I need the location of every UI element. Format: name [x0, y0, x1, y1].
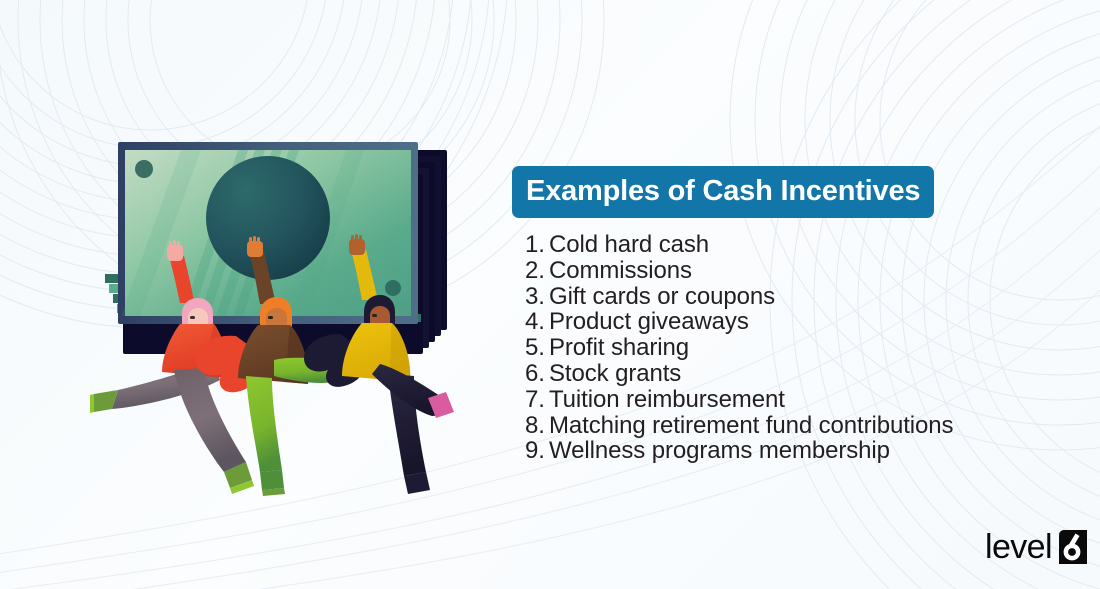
list-item-label: Profit sharing — [549, 335, 689, 361]
logo-six-mark — [1053, 530, 1087, 564]
list-item-number: 4. — [525, 309, 549, 335]
list-item-label: Gift cards or coupons — [549, 284, 775, 310]
logo-wordmark: level — [985, 530, 1052, 564]
list-item: 5. Profit sharing — [525, 335, 1072, 361]
brand-logo: level — [985, 530, 1087, 564]
list-item: 4. Product giveaways — [525, 309, 1072, 335]
list-item: 7. Tuition reimbursement — [525, 387, 1072, 413]
banknote-corner-dot-right — [385, 280, 401, 296]
list-item-number: 1. — [525, 232, 549, 258]
list-item: 3. Gift cards or coupons — [525, 284, 1072, 310]
infographic-slide: Examples of Cash Incentives 1. Cold hard… — [0, 0, 1100, 589]
list-item-label: Product giveaways — [549, 309, 749, 335]
cash-incentives-list: 1. Cold hard cash 2. Commissions 3. Gift… — [525, 232, 1072, 464]
list-item-number: 2. — [525, 258, 549, 284]
list-item-number: 9. — [525, 438, 549, 464]
list-item: 6. Stock grants — [525, 361, 1072, 387]
list-item-label: Wellness programs membership — [549, 438, 890, 464]
banknote-corner-dot-left — [135, 160, 153, 178]
list-item-label: Stock grants — [549, 361, 681, 387]
list-item-label: Cold hard cash — [549, 232, 709, 258]
list-item-number: 7. — [525, 387, 549, 413]
list-item-label: Matching retirement fund contributions — [549, 413, 953, 439]
list-item: 8. Matching retirement fund contribution… — [525, 413, 1072, 439]
list-item-number: 3. — [525, 284, 549, 310]
list-item-number: 6. — [525, 361, 549, 387]
cash-stack-illustration — [88, 128, 488, 498]
list-item-number: 5. — [525, 335, 549, 361]
list-item-number: 8. — [525, 413, 549, 439]
list-item-label: Tuition reimbursement — [549, 387, 785, 413]
list-item: 2. Commissions — [525, 258, 1072, 284]
content-column: Examples of Cash Incentives 1. Cold hard… — [512, 166, 1072, 464]
list-item: 9. Wellness programs membership — [525, 438, 1072, 464]
list-item: 1. Cold hard cash — [525, 232, 1072, 258]
list-item-label: Commissions — [549, 258, 692, 284]
page-title: Examples of Cash Incentives — [512, 166, 934, 218]
banknote-portrait-circle — [206, 156, 330, 280]
